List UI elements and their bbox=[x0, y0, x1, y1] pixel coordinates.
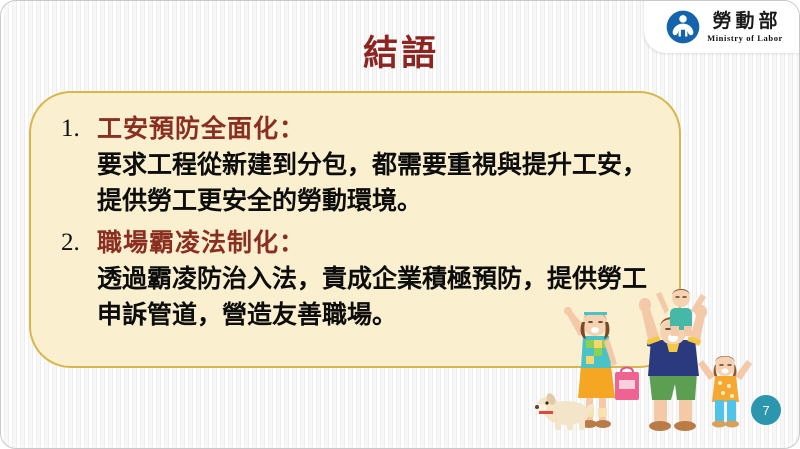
list-item-text: 要求工程從新建到分包，都需要重視與提升工安，提供勞工更安全的勞動環境。 bbox=[97, 147, 657, 219]
list-item-heading: 職場霸凌法制化： bbox=[97, 225, 657, 261]
dog-figure bbox=[535, 392, 594, 430]
list-item-body: 職場霸凌法制化： 透過霸凌防治入法，責成企業積極預防，提供勞工申訴管道，營造友善… bbox=[97, 225, 657, 333]
list-item-body: 工安預防全面化： 要求工程從新建到分包，都需要重視與提升工安，提供勞工更安全的勞… bbox=[97, 111, 657, 219]
list-item-number: 1. bbox=[55, 111, 97, 147]
page-title: 結語 bbox=[1, 25, 800, 76]
page-number-badge: 7 bbox=[751, 395, 781, 425]
list-item: 2. 職場霸凌法制化： 透過霸凌防治入法，責成企業積極預防，提供勞工申訴管道，營… bbox=[55, 225, 657, 333]
list-item-number: 2. bbox=[55, 225, 97, 261]
girl-figure bbox=[698, 356, 752, 428]
list-item-text: 透過霸凌防治入法，責成企業積極預防，提供勞工申訴管道，營造友善職場。 bbox=[97, 261, 657, 333]
content-card: 1. 工安預防全面化： 要求工程從新建到分包，都需要重視與提升工安，提供勞工更安… bbox=[29, 91, 681, 368]
list-item-heading: 工安預防全面化： bbox=[97, 111, 657, 147]
list-item: 1. 工安預防全面化： 要求工程從新建到分包，都需要重視與提升工安，提供勞工更安… bbox=[55, 111, 657, 219]
slide: 勞動部 Ministry of Labor 結語 1. 工安預防全面化： 要求工… bbox=[0, 0, 800, 449]
